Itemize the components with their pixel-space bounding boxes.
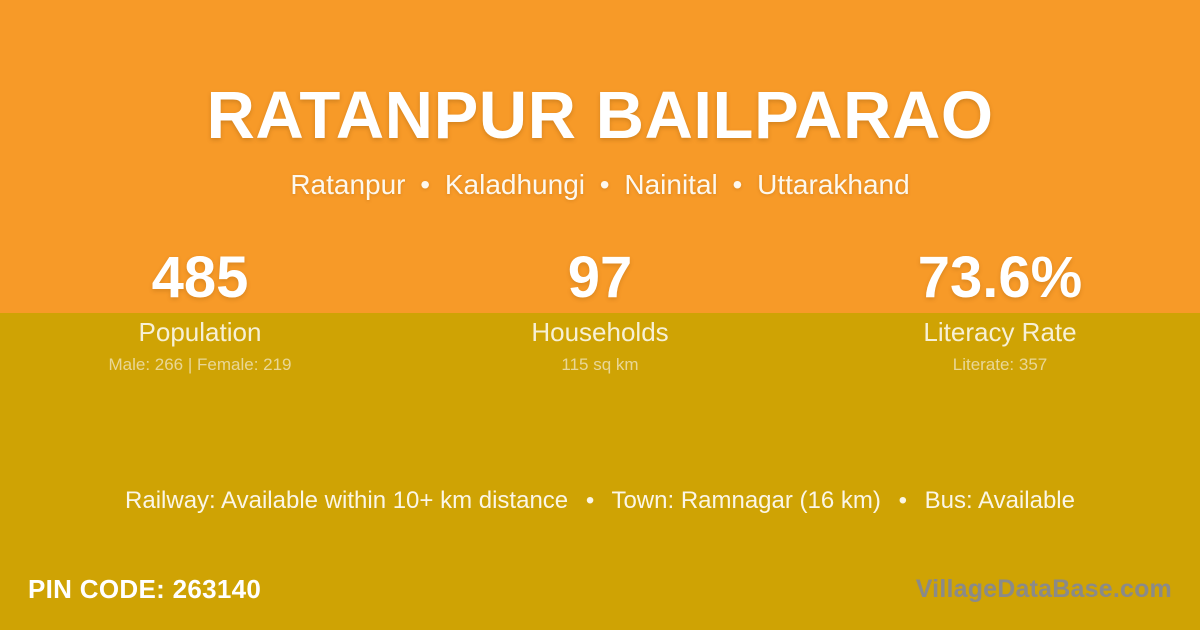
infrastructure-bus: Bus: Available	[925, 487, 1075, 514]
stat-households: 97 Households 115 sq km	[400, 243, 800, 376]
stat-value: 97	[400, 243, 800, 313]
page-title: RATANPUR BAILPARAO	[0, 0, 1200, 149]
infrastructure-line: Railway: Available within 10+ km distanc…	[0, 486, 1200, 516]
footer: PIN CODE: 263140 VillageDataBase.com	[0, 548, 1200, 630]
infrastructure-separator: •	[575, 487, 605, 514]
stat-sublabel: 115 sq km	[400, 354, 800, 376]
village-info-card: RATANPUR BAILPARAO Ratanpur • Kaladhungi…	[0, 0, 1200, 630]
infrastructure-railway: Railway: Available within 10+ km distanc…	[125, 487, 568, 514]
breadcrumb-item-village: Ratanpur	[290, 169, 405, 200]
stat-label: Population	[0, 316, 400, 348]
infrastructure-separator: •	[888, 487, 918, 514]
stat-label: Literacy Rate	[800, 316, 1200, 348]
breadcrumb-separator: •	[726, 169, 750, 200]
site-branding: VillageDataBase.com	[916, 573, 1200, 605]
breadcrumb-separator: •	[593, 169, 617, 200]
stat-label: Households	[400, 316, 800, 348]
pin-code: PIN CODE: 263140	[0, 573, 261, 605]
breadcrumb-item-block: Kaladhungi	[445, 169, 585, 200]
breadcrumb-separator: •	[413, 169, 437, 200]
stat-sublabel: Literate: 357	[800, 354, 1200, 376]
breadcrumb-item-district: Nainital	[624, 169, 717, 200]
stat-sublabel: Male: 266 | Female: 219	[0, 354, 400, 376]
infrastructure-town: Town: Ramnagar (16 km)	[611, 487, 880, 514]
stat-value: 485	[0, 243, 400, 313]
stat-value: 73.6%	[800, 243, 1200, 313]
breadcrumb-item-state: Uttarakhand	[757, 169, 910, 200]
stat-literacy-rate: 73.6% Literacy Rate Literate: 357	[800, 243, 1200, 376]
stat-population: 485 Population Male: 266 | Female: 219	[0, 243, 400, 376]
breadcrumb: Ratanpur • Kaladhungi • Nainital • Uttar…	[0, 149, 1200, 199]
stats-row: 485 Population Male: 266 | Female: 219 9…	[0, 243, 1200, 376]
header: RATANPUR BAILPARAO Ratanpur • Kaladhungi…	[0, 0, 1200, 199]
